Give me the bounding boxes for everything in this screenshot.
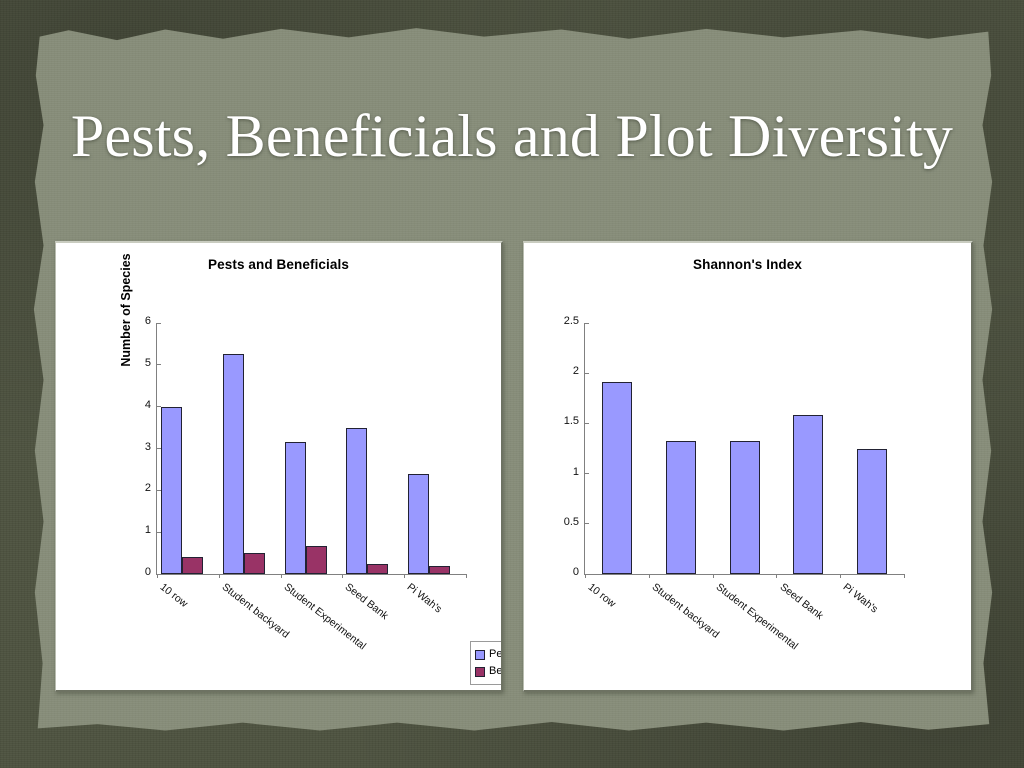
x-axis-label: Student backyard [650,581,722,641]
x-axis-label: Seed Bank [777,581,825,622]
x-axis-tick-mark [776,574,777,578]
plot-area-left: 012345610 rowStudent backyardStudent Exp… [156,323,466,575]
x-axis-tick-mark [649,574,650,578]
x-axis-label: Pi Wah's [841,581,880,616]
y-axis-tick-label: 0.5 [564,516,579,528]
x-axis-tick-mark [342,574,343,578]
bar-shannon-s-index-student-experimental [730,441,760,574]
y-axis-tick-label: 0 [573,566,579,578]
bar-pests-10-row [161,407,182,574]
y-axis-title-left: Number of Species [119,241,133,400]
x-axis-tick-mark [840,574,841,578]
legend-swatch-pests-icon [475,650,485,660]
y-axis-tick-mark [157,364,161,365]
x-axis-tick-mark [466,574,467,578]
y-axis-tick-mark [157,323,161,324]
y-axis-tick-label: 1 [145,524,151,536]
y-axis-tick-mark [585,323,589,324]
y-axis-tick-mark [585,473,589,474]
bar-pests-seed-bank [346,428,367,574]
bar-beneficials-student-backyard [244,553,265,574]
legend-label-pests: Pests [489,646,503,663]
y-axis-tick-label: 2.5 [564,315,579,327]
y-axis-tick-label: 3 [145,441,151,453]
x-axis-label: 10 row [586,581,618,610]
y-axis-tick-label: 0 [145,566,151,578]
slide: Pests, Beneficials and Plot Diversity Pe… [0,0,1024,768]
y-axis-tick-label: 2 [145,482,151,494]
bar-beneficials-pi-wah-s [429,566,450,574]
chart-title-right: Shannon's Index [524,257,971,272]
y-axis-tick-label: 1 [573,466,579,478]
x-axis-tick-mark [281,574,282,578]
bar-beneficials-10-row [182,557,203,574]
legend-item-pests: Pests [475,646,503,663]
y-axis-tick-label: 2 [573,365,579,377]
bar-pests-student-backyard [223,354,244,574]
x-axis-tick-mark [157,574,158,578]
y-axis-tick-mark [585,423,589,424]
x-axis-label: Seed Bank [343,581,391,622]
y-axis-tick-label: 5 [145,357,151,369]
x-axis-label: 10 row [158,581,190,610]
y-axis-tick-label: 6 [145,315,151,327]
chart-panel-pests-and-beneficials: Pests and Beneficials Number of Species … [55,241,503,692]
chart-panel-shannons-index: Shannon's Index 00.511.522.510 rowStuden… [523,241,973,692]
x-axis-tick-mark [585,574,586,578]
bar-shannon-s-index-seed-bank [793,415,823,574]
bar-shannon-s-index-pi-wah-s [857,449,887,575]
x-axis-label: Pi Wah's [405,581,444,616]
bar-shannon-s-index-10-row [602,382,632,574]
y-axis-tick-mark [585,523,589,524]
bar-pests-pi-wah-s [408,474,429,574]
plot-area-right: 00.511.522.510 rowStudent backyardStuden… [584,323,904,575]
legend-item-beneficials: Beneficials [475,663,503,680]
legend-swatch-beneficials-icon [475,667,485,677]
x-axis-tick-mark [404,574,405,578]
x-axis-tick-mark [713,574,714,578]
legend-label-beneficials: Beneficials [489,663,503,680]
bar-beneficials-student-experimental [306,546,327,574]
x-axis-tick-mark [904,574,905,578]
page-title: Pests, Beneficials and Plot Diversity [0,102,1024,171]
y-axis-tick-mark [585,373,589,374]
bar-pests-student-experimental [285,442,306,574]
bar-beneficials-seed-bank [367,564,388,574]
x-axis-tick-mark [219,574,220,578]
y-axis-tick-label: 1.5 [564,415,579,427]
chart-legend: Pests Beneficials [470,641,503,685]
bar-shannon-s-index-student-backyard [666,441,696,574]
y-axis-tick-label: 4 [145,399,151,411]
